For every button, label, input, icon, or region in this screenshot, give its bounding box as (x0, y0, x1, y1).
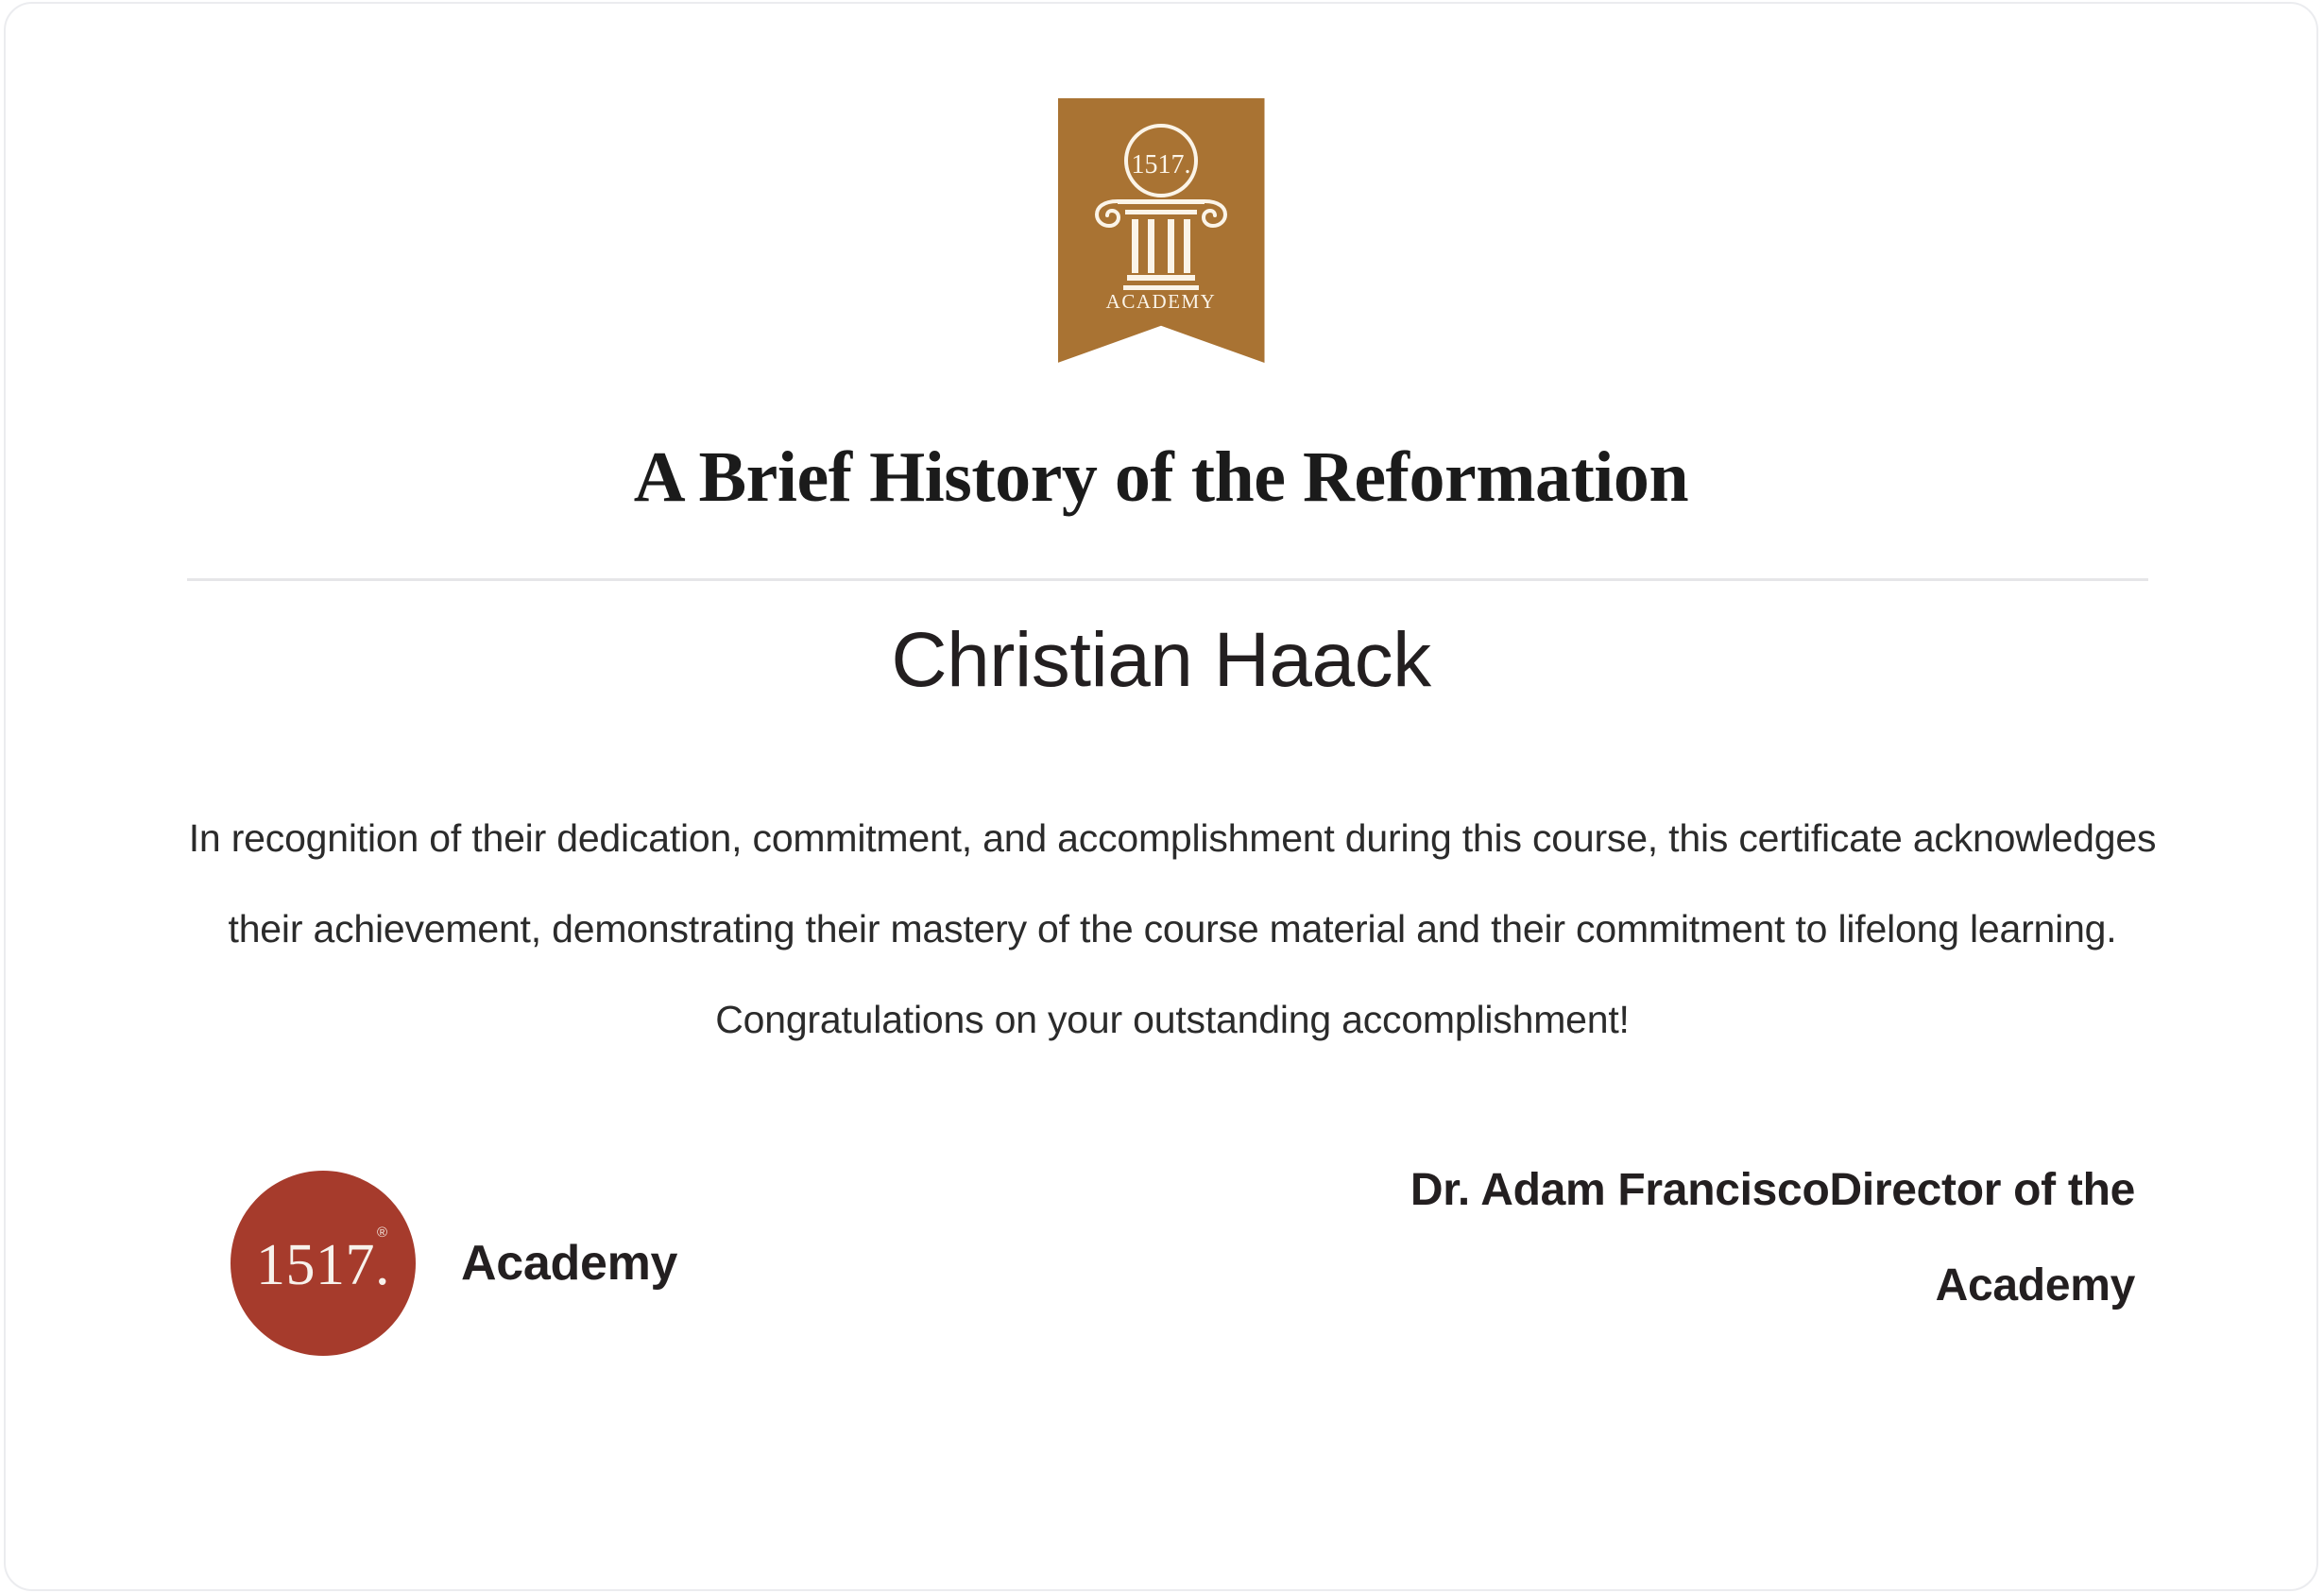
registered-mark-icon: ® (377, 1225, 387, 1240)
1517-seal-badge: 1517. ® (231, 1171, 416, 1356)
signatory-block: Dr. Adam FranciscoDirector of the Academ… (1285, 1142, 2135, 1333)
citation-body: In recognition of their dedication, comm… (185, 793, 2160, 1065)
svg-text:1517.: 1517. (1132, 150, 1191, 180)
organization-seal-group: 1517. ® Academy (231, 1171, 677, 1356)
certificate-card: 1517. ACADEMY A Brief H (4, 2, 2318, 1591)
1517-academy-banner-logo: 1517. ACADEMY (1058, 98, 1265, 363)
title-divider (187, 578, 2148, 581)
seal-year-label: 1517. (256, 1236, 390, 1294)
recipient-name: Christian Haack (6, 612, 2316, 710)
course-title: A Brief History of the Reformation (6, 438, 2316, 518)
certificate-footer: 1517. ® Academy Dr. Adam FranciscoDirect… (6, 1152, 2316, 1397)
svg-text:ACADEMY: ACADEMY (1106, 290, 1217, 308)
column-mark-icon: 1517. ACADEMY (1085, 119, 1237, 308)
logo-banner-container: 1517. ACADEMY (6, 98, 2316, 363)
organization-label: Academy (461, 1235, 677, 1292)
